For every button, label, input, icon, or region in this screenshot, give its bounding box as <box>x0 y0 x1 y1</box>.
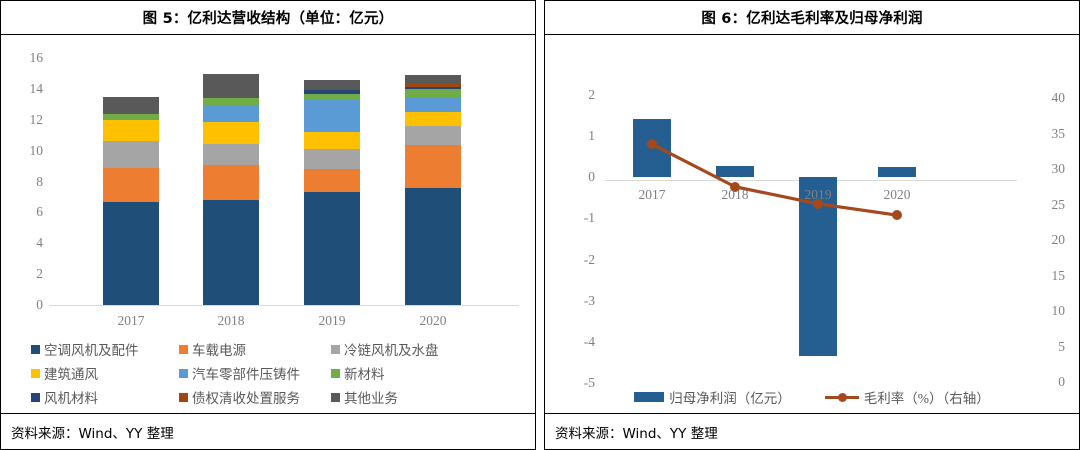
figure-5-y-tick: 10 <box>13 144 43 158</box>
figure-5-bar-segment <box>405 87 461 89</box>
figure-6-chart-area: 210-1-2-3-4-5 4035302520151050 201720182… <box>545 35 1079 413</box>
figure-5-stacked-bar <box>405 58 461 305</box>
figure-5-category-label: 2020 <box>393 313 473 329</box>
figure-5-legend-label: 空调风机及配件 <box>44 339 139 359</box>
legend-swatch-icon <box>31 345 40 354</box>
figure-5-legend-label: 冷链风机及水盘 <box>344 339 439 359</box>
figure-5-bar-segment <box>405 83 461 87</box>
figure-6-category-label: 2018 <box>695 187 775 203</box>
figure-5-bar-segment <box>103 120 159 142</box>
figure-5-legend-item[interactable]: 新材料 <box>331 361 385 385</box>
figure-6-category-label: 2020 <box>857 187 937 203</box>
figure-5-legend-label: 风机材料 <box>44 387 98 407</box>
figure-5-title: 图 5：亿利达营收结构（单位：亿元） <box>143 7 394 28</box>
figure-5-bar-segment <box>304 132 360 149</box>
figure-5-bar-segment <box>405 145 461 187</box>
figure-5-bar-segment <box>203 200 259 305</box>
figure-5-y-tick: 4 <box>13 236 43 250</box>
legend-swatch-icon <box>331 345 340 354</box>
figure-6-source: 资料来源：Wind、YY 整理 <box>555 422 718 442</box>
legend-swatch-icon <box>31 393 40 402</box>
figure-5-bar-segment <box>405 97 461 112</box>
figure-5-legend-item[interactable]: 债权清收处置服务 <box>179 385 331 409</box>
figure-6-legend-item[interactable]: 归母净利润（亿元） <box>634 387 791 407</box>
figure-6-footer: 资料来源：Wind、YY 整理 <box>545 413 1079 449</box>
figure-5-bar-segment <box>103 168 159 202</box>
figure-5-legend-label: 新材料 <box>344 363 385 383</box>
figure-5-source: 资料来源：Wind、YY 整理 <box>11 422 174 442</box>
figure-5-stacked-bar <box>103 58 159 305</box>
figure-5-bar-segment <box>203 122 259 144</box>
figure-5-bar-segment <box>203 106 259 122</box>
figure-5-header: 图 5：亿利达营收结构（单位：亿元） <box>1 1 535 35</box>
figure-5-legend-item[interactable]: 其他业务 <box>331 385 398 409</box>
figure-5-legend-label: 汽车零部件压铸件 <box>192 363 300 383</box>
figure-6-header: 图 6：亿利达毛利率及归母净利润 <box>545 1 1079 35</box>
figure-5-bar-segment <box>203 144 259 164</box>
figure-5-bar-segment <box>304 192 360 305</box>
figure-5-stacked-bar <box>304 58 360 305</box>
figure-5-bar-segment <box>203 74 259 98</box>
figure-6-legend-item[interactable]: 毛利率（%）（右轴） <box>825 387 990 407</box>
figure-5-legend: 空调风机及配件车载电源冷链风机及水盘建筑通风汽车零部件压铸件新材料风机材料债权清… <box>31 337 525 409</box>
figure-5-bar-segment <box>103 141 159 167</box>
legend-swatch-icon <box>331 393 340 402</box>
figure-5-bar-segment <box>304 80 360 90</box>
figure-5-bar-segment <box>405 89 461 97</box>
figure-5-baseline <box>49 305 519 306</box>
figure-5-legend-item[interactable]: 车载电源 <box>179 337 331 361</box>
figure-5-category-label: 2019 <box>292 313 372 329</box>
figure-5-bar-segment <box>304 149 360 169</box>
figure-6-legend-label: 归母净利润（亿元） <box>669 387 791 407</box>
figure-5-bar-segment <box>103 97 159 114</box>
legend-swatch-icon <box>179 369 188 378</box>
figure-5-legend-label: 车载电源 <box>192 339 246 359</box>
figure-6-category-label: 2019 <box>778 187 858 203</box>
legend-bar-swatch-icon <box>634 392 664 402</box>
figure-5-bar-segment <box>304 100 360 132</box>
figure-5-bar-segment <box>103 202 159 305</box>
figure-5-y-tick: 12 <box>13 113 43 127</box>
figure-5-y-tick: 2 <box>13 267 43 281</box>
figure-6-legend-label: 毛利率（%）（右轴） <box>864 387 990 407</box>
figure-6-title: 图 6：亿利达毛利率及归母净利润 <box>701 7 922 28</box>
legend-swatch-icon <box>331 369 340 378</box>
figure-5-legend-item[interactable]: 汽车零部件压铸件 <box>179 361 331 385</box>
figure-5-y-tick: 16 <box>13 51 43 65</box>
figure-5-legend-label: 建筑通风 <box>44 363 98 383</box>
figure-5-y-tick: 6 <box>13 205 43 219</box>
figure-5-legend-item[interactable]: 冷链风机及水盘 <box>331 337 439 361</box>
figure-5-bar-segment <box>304 90 360 94</box>
legend-line-marker-icon <box>825 392 859 402</box>
figure-5-stacked-bar <box>203 58 259 305</box>
figure-5-bar-segment <box>203 98 259 106</box>
figure-5-bar-segment <box>203 165 259 201</box>
figure-6-category-label: 2017 <box>612 187 692 203</box>
figure-5-bar-segment <box>405 75 461 83</box>
figure-5-bar-segment <box>405 112 461 126</box>
figure-panel-5: 图 5：亿利达营收结构（单位：亿元） 0246810121416 2017201… <box>0 0 536 450</box>
figure-pair-container: 图 5：亿利达营收结构（单位：亿元） 0246810121416 2017201… <box>0 0 1080 450</box>
figure-5-category-label: 2018 <box>191 313 271 329</box>
figure-5-bar-segment <box>304 94 360 100</box>
figure-5-bar-segment <box>405 126 461 145</box>
figure-5-bar-segment <box>405 188 461 305</box>
figure-5-legend-item[interactable]: 风机材料 <box>31 385 179 409</box>
figure-5-legend-item[interactable]: 建筑通风 <box>31 361 179 385</box>
figure-5-y-tick: 8 <box>13 175 43 189</box>
figure-5-footer: 资料来源：Wind、YY 整理 <box>1 413 535 449</box>
figure-5-bar-segment <box>304 169 360 192</box>
figure-5-legend-item[interactable]: 空调风机及配件 <box>31 337 179 361</box>
figure-5-legend-label: 其他业务 <box>344 387 398 407</box>
legend-swatch-icon <box>179 393 188 402</box>
figure-panel-6: 图 6：亿利达毛利率及归母净利润 210-1-2-3-4-5 403530252… <box>544 0 1080 450</box>
legend-swatch-icon <box>31 369 40 378</box>
figure-5-chart-area: 0246810121416 2017201820192020 空调风机及配件车载… <box>1 35 535 413</box>
figure-5-y-tick: 14 <box>13 82 43 96</box>
figure-5-category-label: 2017 <box>91 313 171 329</box>
figure-6-gross-margin-line <box>545 35 1079 413</box>
legend-swatch-icon <box>179 345 188 354</box>
figure-5-bar-segment <box>103 114 159 120</box>
figure-6-legend: 归母净利润（亿元）毛利率（%）（右轴） <box>545 387 1079 407</box>
figure-5-legend-label: 债权清收处置服务 <box>192 387 300 407</box>
figure-5-y-tick: 0 <box>13 298 43 312</box>
